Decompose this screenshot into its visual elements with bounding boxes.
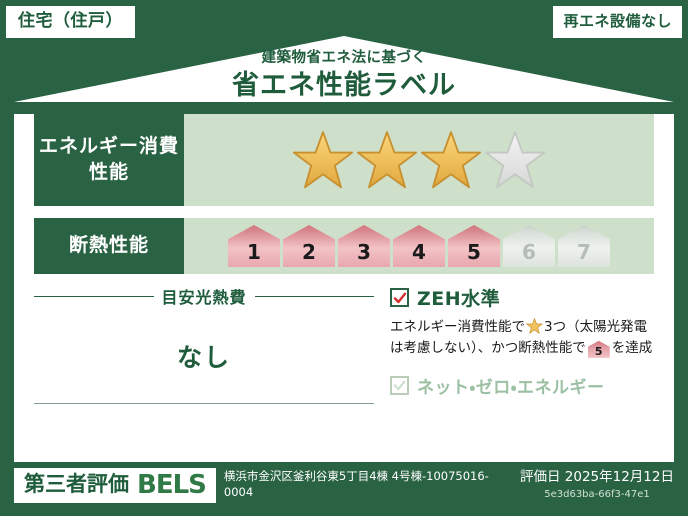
utility-cost-divider: [34, 403, 374, 404]
utility-cost-heading-text: 目安光熱費: [162, 284, 247, 308]
insulation-badge-6: 6: [503, 225, 555, 267]
zeh-heading: ZEH水準: [390, 284, 654, 311]
net-zero-energy-checkbox[interactable]: [390, 376, 409, 395]
insulation-badge-1: 1: [228, 225, 280, 267]
zeh-desc-part-3: を達成: [612, 340, 653, 356]
star-icon-filled-2: [356, 130, 418, 190]
evaluation-id: 5e3d63ba-66f3-47e1: [520, 489, 674, 501]
insulation-level-badges: 1 2 3 4 5 6 7: [228, 225, 610, 267]
card-roof-shape: [14, 36, 674, 102]
insulation-badge-5: 5: [448, 225, 500, 267]
insulation-badge-4: 4: [393, 225, 445, 267]
star-icon-filled-3: [420, 130, 482, 190]
star-rating: [292, 130, 546, 190]
zeh-section: ZEH水準 エネルギー消費性能で 3つ（太陽光発電 は考慮しない）、かつ断熱性能…: [384, 284, 654, 412]
label-card: 建築物省エネ法に基づく 省エネ性能ラベル エネルギー消費性能: [14, 36, 674, 450]
zeh-description: エネルギー消費性能で 3つ（太陽光発電 は考慮しない）、かつ断熱性能で5を達成: [390, 317, 654, 359]
property-address: 横浜市金沢区釜利谷東5丁目4棟 4号棟-10075016-0004: [224, 469, 494, 500]
utility-cost-value: なし: [34, 338, 374, 374]
evaluation-date: 評価日 2025年12月12日: [520, 469, 674, 485]
insulation-badge-2: 2: [283, 225, 335, 267]
zeh-desc-part-1: エネルギー消費性能で: [390, 319, 525, 335]
star-icon-filled-1: [292, 130, 354, 190]
dwelling-type-tag: 住宅（住戸）: [6, 6, 135, 38]
renewable-equipment-tag: 再エネ設備なし: [553, 6, 682, 38]
utility-cost-heading: 目安光熱費: [34, 284, 374, 308]
net-zero-energy-row: ネット・ゼロ・エネルギー: [390, 373, 654, 398]
insulation-badge-inline: 5: [588, 341, 610, 358]
net-zero-energy-title: ネット・ゼロ・エネルギー: [417, 373, 605, 398]
footer: 第三者評価 BELS 横浜市金沢区釜利谷東5丁目4棟 4号棟-10075016-…: [0, 454, 688, 516]
insulation-performance-label: 断熱性能: [34, 218, 184, 274]
star-icon-empty-4: [484, 130, 546, 190]
energy-performance-value: [184, 114, 654, 206]
third-party-evaluation-label: 第三者評価: [24, 474, 129, 495]
insulation-performance-row: 断熱性能 1 2 3 4 5 6 7: [34, 218, 654, 274]
bels-logo: BELS: [137, 472, 206, 498]
insulation-performance-value: 1 2 3 4 5 6 7: [184, 218, 654, 274]
energy-performance-label: エネルギー消費性能: [34, 114, 184, 206]
energy-performance-row: エネルギー消費性能: [34, 114, 654, 206]
card-body: エネルギー消費性能: [14, 114, 674, 462]
heading-rule-right: [255, 296, 375, 297]
heading-rule-left: [34, 296, 154, 297]
check-icon-disabled: [393, 378, 407, 392]
insulation-badge-3: 3: [338, 225, 390, 267]
star-icon-inline: [526, 318, 543, 334]
zeh-desc-part-2: は考慮しない）、かつ断熱性能で: [390, 340, 586, 356]
evaluation-info: 評価日 2025年12月12日 5e3d63ba-66f3-47e1: [520, 469, 674, 500]
lower-section: 目安光熱費 なし ZEH水準 エネルギー消費性能で: [34, 284, 654, 412]
zeh-checkbox[interactable]: [390, 288, 409, 307]
bels-badge: 第三者評価 BELS: [14, 468, 216, 503]
zeh-title: ZEH水準: [417, 284, 500, 311]
insulation-badge-7: 7: [558, 225, 610, 267]
utility-cost-section: 目安光熱費 なし: [34, 284, 384, 412]
check-icon: [393, 291, 407, 305]
zeh-desc-star-count: 3つ（太陽光発電: [544, 319, 647, 335]
